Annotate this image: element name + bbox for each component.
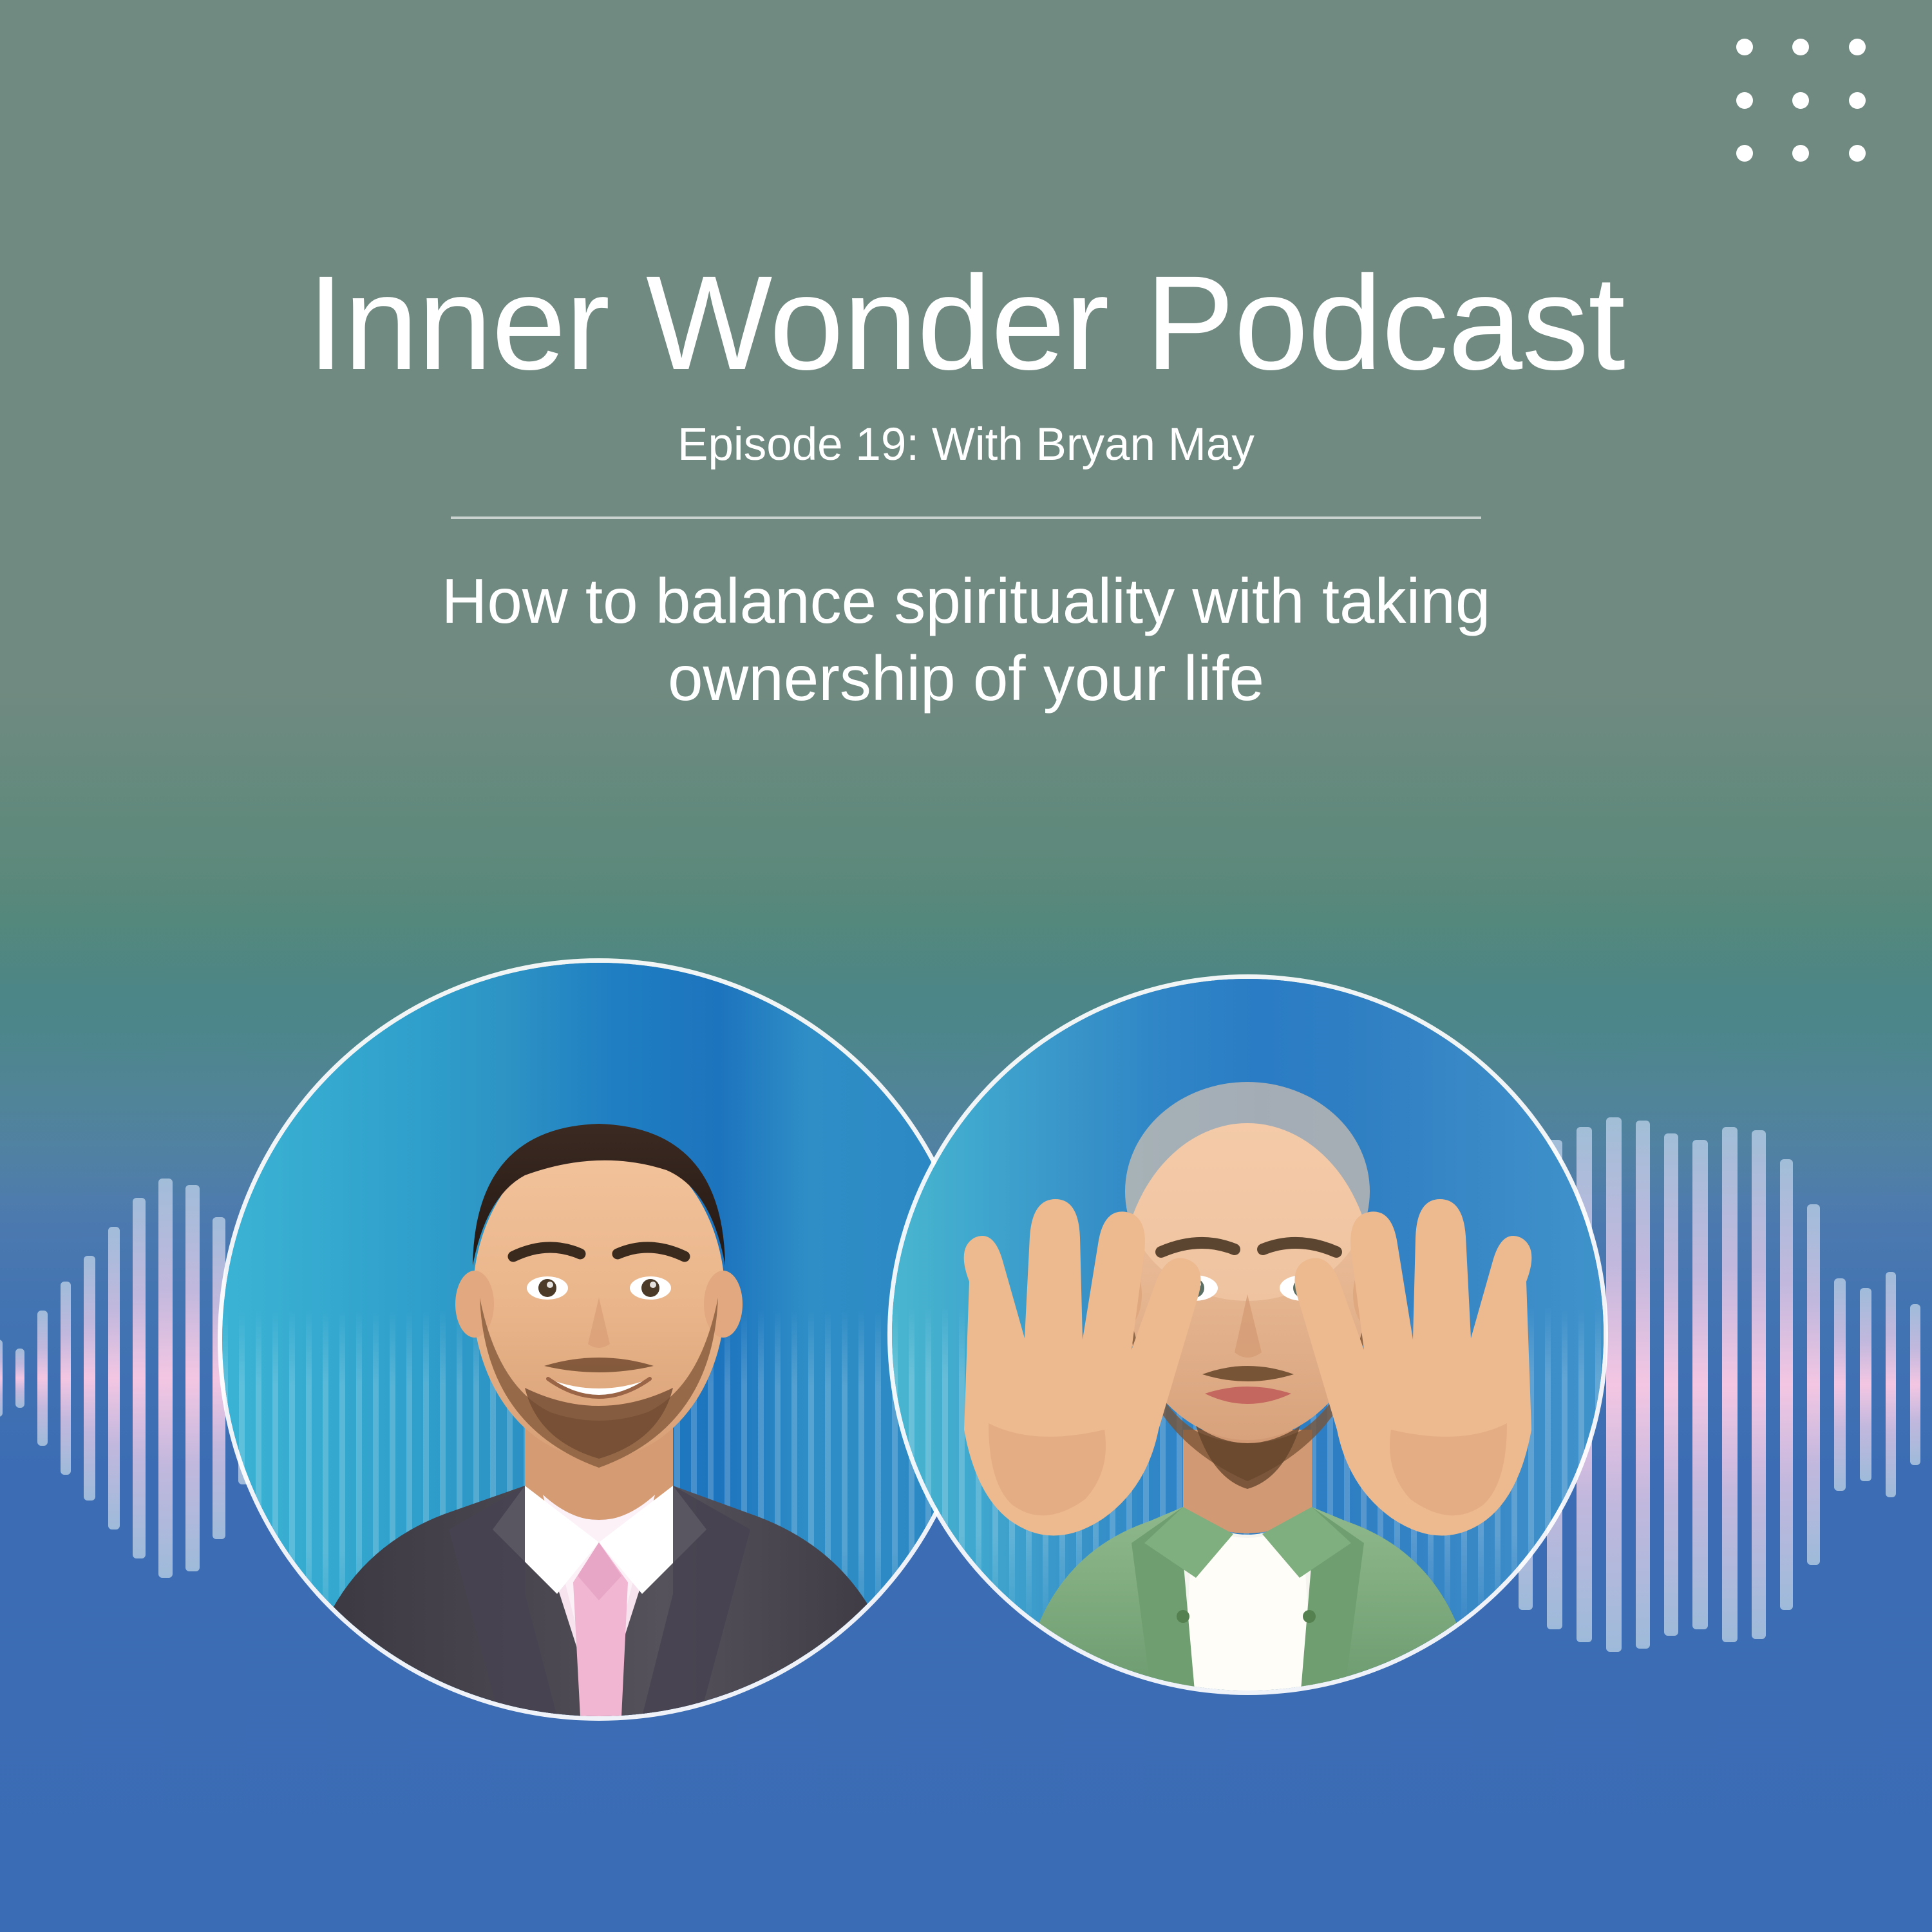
waveform-bar xyxy=(1910,1304,1920,1465)
waveform-bar xyxy=(61,1282,71,1475)
page-title: Inner Wonder Podcast xyxy=(0,0,1932,390)
waveform-bar xyxy=(1606,1117,1622,1652)
waveform-bar xyxy=(1886,1272,1896,1497)
waveform-bar xyxy=(108,1227,120,1529)
cover-text-block: Inner Wonder Podcast Episode 19: With Br… xyxy=(0,0,1932,717)
host-portrait-left xyxy=(222,963,976,1716)
episode-description-line-1: How to balance spirituality with taking xyxy=(232,563,1700,640)
waveform-bar xyxy=(1722,1127,1738,1642)
waveform-bar xyxy=(84,1256,95,1501)
waveform-bar xyxy=(1636,1121,1650,1649)
waveform-bar xyxy=(133,1198,146,1558)
waveform-bar xyxy=(1664,1133,1678,1636)
portrait-illustration-host xyxy=(892,979,1604,1690)
episode-description-line-2: ownership of your life xyxy=(232,640,1700,717)
portrait-illustration-bryan-may xyxy=(222,963,976,1716)
waveform-bar xyxy=(1807,1204,1820,1565)
waveform-bar xyxy=(0,1340,3,1417)
host-portrait-right xyxy=(892,979,1604,1690)
waveform-bar xyxy=(1692,1140,1708,1629)
waveform-bar xyxy=(37,1311,48,1446)
waveform-bar xyxy=(15,1349,24,1408)
episode-description: How to balance spirituality with taking … xyxy=(232,519,1700,717)
episode-subtitle: Episode 19: With Bryan May xyxy=(0,390,1932,470)
waveform-bar xyxy=(185,1185,200,1571)
waveform-bar xyxy=(1752,1130,1766,1639)
podcast-cover-art: Inner Wonder Podcast Episode 19: With Br… xyxy=(0,0,1932,1932)
waveform-bar xyxy=(1834,1278,1846,1491)
waveform-bar xyxy=(1860,1288,1871,1481)
waveform-bar xyxy=(1780,1159,1793,1610)
waveform-bar xyxy=(158,1179,173,1578)
